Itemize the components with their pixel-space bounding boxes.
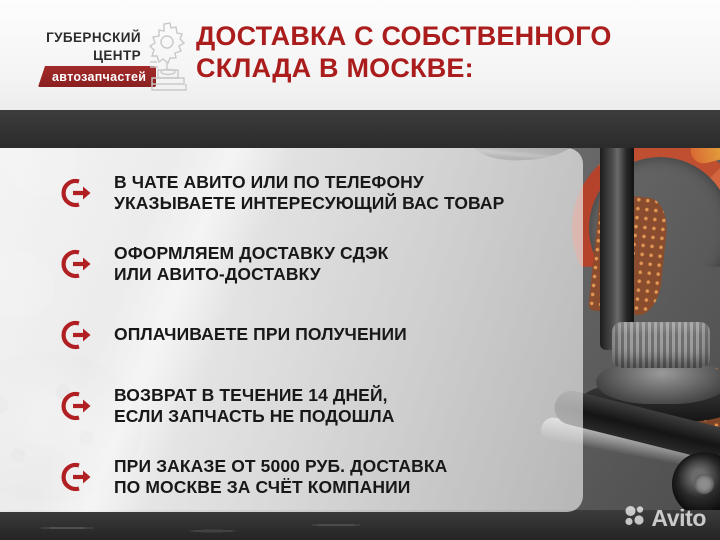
- list-item: ОПЛАЧИВАЕТЕ ПРИ ПОЛУЧЕНИИ: [0, 309, 583, 361]
- list-item-label: ОПЛАЧИВАЕТЕ ПРИ ПОЛУЧЕНИИ: [114, 324, 407, 345]
- logo-ribbon-label: автозапчастей: [52, 70, 146, 84]
- avito-watermark: Avito: [624, 505, 706, 532]
- list-item-label: В ЧАТЕ АВИТО ИЛИ ПО ТЕЛЕФОНУ УКАЗЫВАЕТЕ …: [114, 172, 504, 214]
- avito-wordmark: Avito: [651, 507, 706, 530]
- list-item-label: ОФОРМЛЯЕМ ДОСТАВКУ СДЭК ИЛИ АВИТО-ДОСТАВ…: [114, 243, 388, 285]
- arrow-out-icon: [56, 244, 96, 284]
- arrow-out-icon: [56, 315, 96, 355]
- logo-text-line1: ГУБЕРНСКИЙ: [46, 30, 141, 45]
- list-item: ВОЗВРАТ В ТЕЧЕНИЕ 14 ДНЕЙ, ЕСЛИ ЗАПЧАСТЬ…: [0, 380, 583, 432]
- engine-gear-icon: [146, 20, 190, 92]
- bg-knurled-hub: [612, 322, 710, 368]
- header-divider-band: [0, 110, 720, 148]
- list-item-label: ВОЗВРАТ В ТЕЧЕНИЕ 14 ДНЕЙ, ЕСЛИ ЗАПЧАСТЬ…: [114, 385, 395, 427]
- bg-bottom-parts: [0, 510, 560, 540]
- avito-dots-icon: [624, 505, 646, 532]
- arrow-out-icon: [56, 386, 96, 426]
- page-title: ДОСТАВКА С СОБСТВЕННОГО СКЛАДА В МОСКВЕ:: [196, 20, 696, 84]
- list-item: В ЧАТЕ АВИТО ИЛИ ПО ТЕЛЕФОНУ УКАЗЫВАЕТЕ …: [0, 167, 583, 219]
- header-bar: ГУБЕРНСКИЙ ЦЕНТР автозапчастей: [0, 0, 720, 110]
- list-item: ОФОРМЛЯЕМ ДОСТАВКУ СДЭК ИЛИ АВИТО-ДОСТАВ…: [0, 238, 583, 290]
- benefits-panel: В ЧАТЕ АВИТО ИЛИ ПО ТЕЛЕФОНУ УКАЗЫВАЕТЕ …: [0, 148, 583, 512]
- arrow-out-icon: [56, 173, 96, 213]
- logo-text-line2: ЦЕНТР: [93, 48, 141, 63]
- company-logo[interactable]: ГУБЕРНСКИЙ ЦЕНТР автозапчастей: [18, 18, 183, 94]
- benefits-list: В ЧАТЕ АВИТО ИЛИ ПО ТЕЛЕФОНУ УКАЗЫВАЕТЕ …: [0, 148, 583, 512]
- logo-ribbon: автозапчастей: [38, 66, 156, 87]
- page-title-line1: ДОСТАВКА С СОБСТВЕННОГО: [196, 21, 612, 51]
- arrow-out-icon: [56, 457, 96, 497]
- list-item-label: ПРИ ЗАКАЗЕ ОТ 5000 РУБ. ДОСТАВКА ПО МОСК…: [114, 456, 447, 498]
- promo-banner: ГУБЕРНСКИЙ ЦЕНТР автозапчастей: [0, 0, 720, 540]
- page-title-line2: СКЛАДА В МОСКВЕ:: [196, 52, 696, 84]
- list-item: ПРИ ЗАКАЗЕ ОТ 5000 РУБ. ДОСТАВКА ПО МОСК…: [0, 451, 583, 503]
